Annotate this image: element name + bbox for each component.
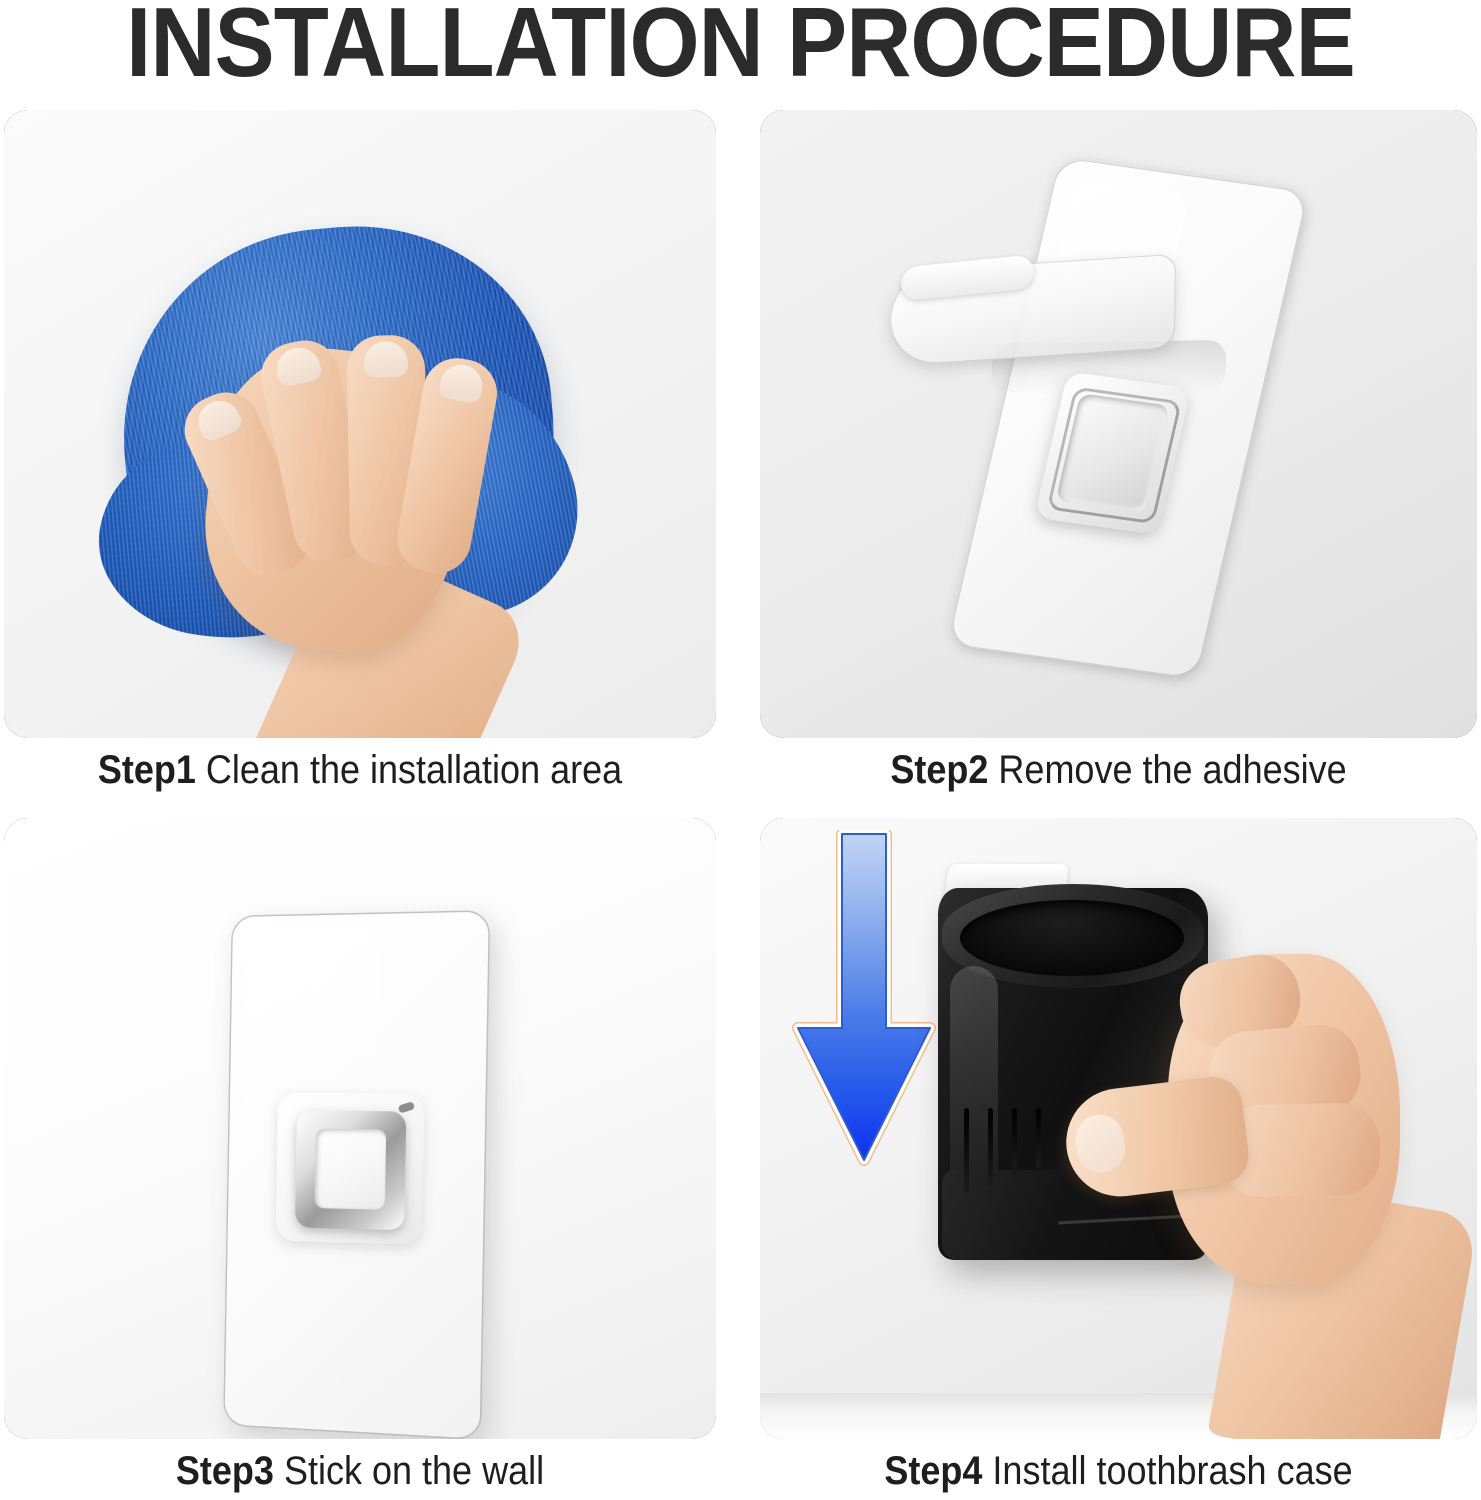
drainage-slot (964, 1108, 969, 1194)
hand-wiping (143, 214, 526, 738)
step-1-caption: Step1 Clean the installation area (40, 748, 681, 793)
installation-procedure-infographic: INSTALLATION PROCEDURE (0, 0, 1481, 1500)
thumb (1060, 1073, 1252, 1202)
step-3-image-panel (4, 818, 716, 1439)
down-arrow-icon (780, 830, 948, 1180)
drainage-slot (988, 1108, 993, 1186)
adhesive-sticker-pad-mounted (223, 910, 490, 1439)
step-3-description: Stick on the wall (284, 1449, 544, 1493)
step-4-caption: Step4 Install toothbrash case (796, 1449, 1441, 1494)
step-2-cell: Step2 Remove the adhesive (760, 110, 1477, 738)
step-2-caption: Step2 Remove the adhesive (796, 748, 1441, 793)
step-2-image-panel (760, 110, 1477, 738)
step-1-label: Step1 (98, 748, 196, 792)
mount-boss-edge (1046, 386, 1182, 524)
mount-boss-recess (315, 1129, 387, 1210)
step-3-caption: Step3 Stick on the wall (40, 1449, 681, 1494)
step-1-cell: Step1 Clean the installation area (4, 110, 716, 738)
step-3-cell: Step3 Stick on the wall (4, 818, 716, 1439)
drainage-slots (964, 1108, 1074, 1204)
page-title: INSTALLATION PROCEDURE (59, 0, 1422, 90)
step-2-label: Step2 (890, 748, 988, 792)
step-1-description: Clean the installation area (206, 748, 622, 792)
step-3-label: Step3 (176, 1449, 274, 1493)
step-1-image-panel (4, 110, 716, 738)
cleaning-scene (4, 110, 716, 738)
step-4-description: Install toothbrash case (992, 1449, 1352, 1493)
drainage-slot (1036, 1108, 1041, 1168)
steps-grid: Step1 Clean the installation area (4, 110, 1477, 1495)
drainage-slot (1012, 1108, 1017, 1178)
step-4-image-panel (760, 818, 1477, 1439)
hand-holding-case (1060, 896, 1440, 1416)
step-2-description: Remove the adhesive (998, 748, 1346, 792)
step-4-label: Step4 (884, 1449, 982, 1493)
step-4-cell: Step4 Install toothbrash case (760, 818, 1477, 1439)
